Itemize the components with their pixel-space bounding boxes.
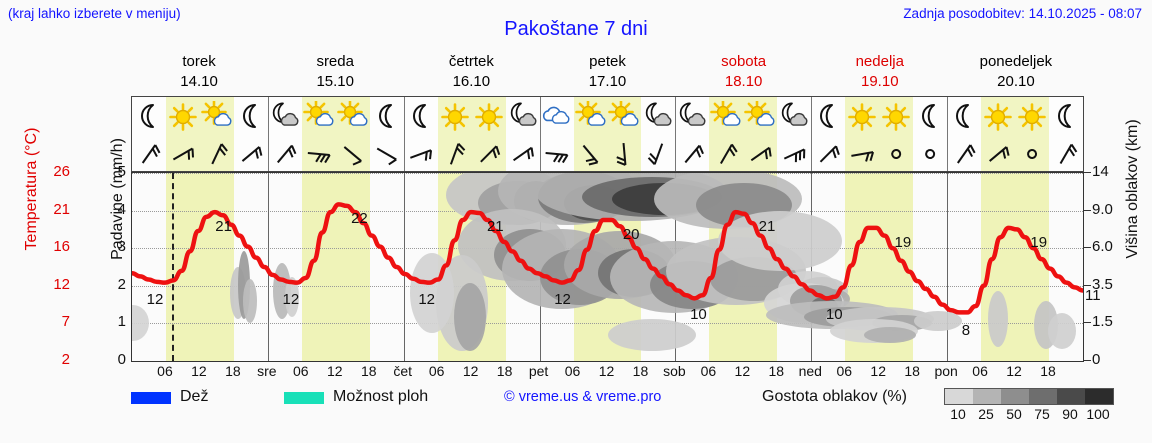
precipitation-tick-label: 1 xyxy=(110,313,126,330)
precipitation-tick-label: 3 xyxy=(110,238,126,255)
day-header-row: torek14.10sreda15.10četrtek16.10petek17.… xyxy=(131,52,1084,94)
x-tick-label: 06 xyxy=(701,363,717,379)
x-tick-label: sre xyxy=(257,363,276,379)
temperature-value-label: 20 xyxy=(623,226,640,243)
wind-barb xyxy=(451,144,466,167)
x-axis-tick-labels: 061218sre061218čet061218pet061218sob0612… xyxy=(131,363,1084,381)
temperature-value-label: 12 xyxy=(283,291,300,308)
day-header-sreda: sreda15.10 xyxy=(267,52,403,94)
moon-cloud-icon xyxy=(777,99,811,135)
moon-cloud-icon xyxy=(641,99,675,135)
cloud-density-tick-label: 50 xyxy=(1006,406,1022,422)
sun-icon xyxy=(981,99,1015,135)
day-date: 19.10 xyxy=(812,72,948,92)
x-tick-label: 18 xyxy=(769,363,785,379)
x-tick-label: 18 xyxy=(904,363,920,379)
temperature-value-label: 19 xyxy=(895,234,912,251)
x-tick-label: 12 xyxy=(1006,363,1022,379)
x-tick-label: sob xyxy=(663,363,686,379)
wind-barb xyxy=(339,147,361,167)
moon-cloud-icon xyxy=(268,99,302,135)
moon-icon xyxy=(404,99,438,135)
day-date: 16.10 xyxy=(403,72,539,92)
edge-temperature-label: 11 xyxy=(1085,287,1101,304)
x-tick-label: 06 xyxy=(836,363,852,379)
wind-barb xyxy=(958,145,977,168)
day-date: 15.10 xyxy=(267,72,403,92)
wind-barb xyxy=(242,147,264,167)
moon-icon xyxy=(811,99,845,135)
wind-barb xyxy=(751,148,774,167)
temperature-value-label: 21 xyxy=(487,218,504,235)
wind-barb xyxy=(891,149,902,160)
cloud-density-swatch xyxy=(945,389,973,404)
wind-barb xyxy=(820,146,841,167)
last-update-label: Zadnja posodobitev: 14.10.2025 - 08:07 xyxy=(903,6,1142,21)
temperature-value-label: 10 xyxy=(826,306,843,323)
wind-barbs xyxy=(132,138,1083,170)
sun-cloud-icon xyxy=(336,99,370,135)
day-name: četrtek xyxy=(403,52,539,72)
sun-cloud-icon xyxy=(302,99,336,135)
moon-icon xyxy=(234,99,268,135)
precipitation-tick-label: 5 xyxy=(110,163,126,180)
rain-legend-swatch xyxy=(131,392,171,404)
cloud-density-tick-label: 90 xyxy=(1062,406,1078,422)
x-tick-label: pon xyxy=(934,363,957,379)
axis-tick-mark xyxy=(1084,285,1091,286)
day-header-torek: torek14.10 xyxy=(131,52,267,94)
temperature-curve xyxy=(132,173,1083,361)
precipitation-tick-label: 0 xyxy=(110,351,126,368)
temperature-value-label: 8 xyxy=(962,322,970,339)
sun-icon xyxy=(472,99,506,135)
axis-tick-mark xyxy=(1084,172,1091,173)
day-date: 20.10 xyxy=(948,72,1084,92)
moon-cloud-icon xyxy=(506,99,540,135)
axis-tick-mark xyxy=(1084,360,1091,361)
temperature-tick-label: 21 xyxy=(36,201,70,218)
showers-legend-label: Možnost ploh xyxy=(333,388,428,406)
wind-barb-strip xyxy=(131,138,1084,172)
x-tick-label: ned xyxy=(799,363,822,379)
temperature-tick-label: 7 xyxy=(36,313,70,330)
moon-icon xyxy=(1049,99,1083,135)
wind-barb xyxy=(514,148,537,167)
cloud-density-swatch xyxy=(1085,389,1113,404)
day-header-ponedeljek: ponedeljek20.10 xyxy=(948,52,1084,94)
wind-barb xyxy=(173,149,196,167)
wind-barb xyxy=(721,144,739,167)
moon-icon xyxy=(132,99,166,135)
temperature-value-label: 12 xyxy=(147,291,164,308)
wind-barb xyxy=(307,153,330,163)
cloud-density-swatch xyxy=(973,389,1001,404)
cloud-density-tick-label: 10 xyxy=(950,406,966,422)
temperature-tick-label: 16 xyxy=(36,238,70,255)
moon-icon xyxy=(947,99,981,135)
wind-barb xyxy=(1061,144,1079,167)
cloud-icon xyxy=(540,99,574,135)
cloud-height-tick-label: 0 xyxy=(1092,351,1100,368)
sun-icon xyxy=(879,99,913,135)
sun-icon xyxy=(1015,99,1049,135)
wind-barb xyxy=(851,152,874,164)
x-tick-label: 18 xyxy=(633,363,649,379)
wind-barb xyxy=(481,146,502,167)
showers-legend-swatch xyxy=(284,392,324,404)
cloud-density-tick-label: 25 xyxy=(978,406,994,422)
cloud-density-legend-title: Gostota oblakov (%) xyxy=(762,388,907,406)
day-name: sreda xyxy=(267,52,403,72)
wind-barb xyxy=(925,149,935,159)
axis-tick-mark xyxy=(1084,247,1091,248)
day-header-četrtek: četrtek16.10 xyxy=(403,52,539,94)
cloud-density-swatch xyxy=(1029,389,1057,404)
x-tick-label: pet xyxy=(529,363,548,379)
x-tick-label: 12 xyxy=(735,363,751,379)
cloud-density-tick-label: 100 xyxy=(1086,406,1109,422)
cloud-density-swatch xyxy=(1057,389,1085,404)
moon-cloud-icon xyxy=(675,99,709,135)
temperature-value-label: 21 xyxy=(759,218,776,235)
x-tick-label: 12 xyxy=(191,363,207,379)
x-tick-label: 12 xyxy=(599,363,615,379)
wind-barb xyxy=(212,144,229,167)
day-header-petek: petek17.10 xyxy=(539,52,675,94)
temperature-value-label: 19 xyxy=(1030,234,1047,251)
temperature-value-label: 12 xyxy=(554,291,571,308)
cloud-density-gradient-bar xyxy=(944,388,1114,405)
cloud-height-tick-label: 1.5 xyxy=(1092,313,1113,330)
temperature-tick-label: 12 xyxy=(36,276,70,293)
sun-icon xyxy=(845,99,879,135)
wind-barb xyxy=(278,146,298,168)
sun-icon xyxy=(438,99,472,135)
cloud-density-tick-label: 75 xyxy=(1034,406,1050,422)
precipitation-tick-label: 2 xyxy=(110,276,126,293)
axis-tick-mark xyxy=(1084,322,1091,323)
rain-legend-label: Dež xyxy=(180,388,208,406)
cloud-height-axis-title: Višina oblakov (km) xyxy=(1124,94,1142,284)
day-date: 14.10 xyxy=(131,72,267,92)
cloud-density-tick-labels: 1025507590100 xyxy=(944,406,1114,422)
day-header-nedelja: nedelja19.10 xyxy=(812,52,948,94)
x-tick-label: 06 xyxy=(972,363,988,379)
day-name: torek xyxy=(131,52,267,72)
credit-label: © vreme.us & vreme.pro xyxy=(504,389,661,405)
x-tick-label: 18 xyxy=(1040,363,1056,379)
wind-barb xyxy=(373,149,396,167)
sun-cloud-icon xyxy=(607,99,641,135)
axis-tick-mark xyxy=(1084,210,1091,211)
page-title: Pakoštane 7 dni xyxy=(0,18,1152,41)
cloud-height-tick-label: 6.0 xyxy=(1092,238,1113,255)
temperature-tick-label: 26 xyxy=(36,163,70,180)
temperature-value-label: 21 xyxy=(215,218,232,235)
wind-barb xyxy=(545,153,568,163)
day-date: 17.10 xyxy=(539,72,675,92)
weather-icon-strip xyxy=(131,96,1084,138)
x-tick-label: 06 xyxy=(429,363,445,379)
x-tick-label: 12 xyxy=(463,363,479,379)
day-name: ponedeljek xyxy=(948,52,1084,72)
wind-barb xyxy=(410,150,433,165)
temperature-tick-label: 2 xyxy=(36,351,70,368)
wind-barb xyxy=(784,149,807,166)
day-name: sobota xyxy=(676,52,812,72)
x-tick-label: čet xyxy=(393,363,412,379)
x-tick-label: 06 xyxy=(293,363,309,379)
wind-barb xyxy=(685,146,705,168)
wind-barb xyxy=(143,145,162,168)
forecast-plot: 122112221221122010211019819 xyxy=(131,172,1084,362)
temperature-value-label: 12 xyxy=(418,291,435,308)
x-tick-label: 18 xyxy=(361,363,377,379)
sun-cloud-icon xyxy=(743,99,777,135)
wind-barb xyxy=(647,141,662,164)
x-tick-label: 12 xyxy=(870,363,886,379)
chart-legend: Dež Možnost ploh © vreme.us & vreme.pro … xyxy=(0,386,1152,434)
temperature-value-label: 22 xyxy=(351,210,368,227)
wind-barb xyxy=(577,146,597,168)
x-tick-label: 18 xyxy=(497,363,513,379)
day-header-sobota: sobota18.10 xyxy=(676,52,812,94)
day-name: nedelja xyxy=(812,52,948,72)
wind-barb xyxy=(990,147,1012,167)
temperature-value-label: 10 xyxy=(690,306,707,323)
wind-barb xyxy=(1028,150,1037,159)
precipitation-tick-label: 4 xyxy=(110,201,126,218)
x-tick-label: 06 xyxy=(157,363,173,379)
wind-barb xyxy=(616,143,626,166)
cloud-density-swatch xyxy=(1001,389,1029,404)
moon-icon xyxy=(913,99,947,135)
sun-cloud-icon xyxy=(709,99,743,135)
x-tick-label: 06 xyxy=(565,363,581,379)
day-name: petek xyxy=(539,52,675,72)
x-tick-label: 18 xyxy=(225,363,241,379)
cloud-height-tick-label: 14 xyxy=(1092,163,1109,180)
moon-icon xyxy=(370,99,404,135)
day-date: 18.10 xyxy=(676,72,812,92)
cloud-height-tick-label: 9.0 xyxy=(1092,201,1113,218)
sun-cloud-icon xyxy=(200,99,234,135)
x-tick-label: 12 xyxy=(327,363,343,379)
sun-icon xyxy=(166,99,200,135)
sun-cloud-icon xyxy=(574,99,608,135)
